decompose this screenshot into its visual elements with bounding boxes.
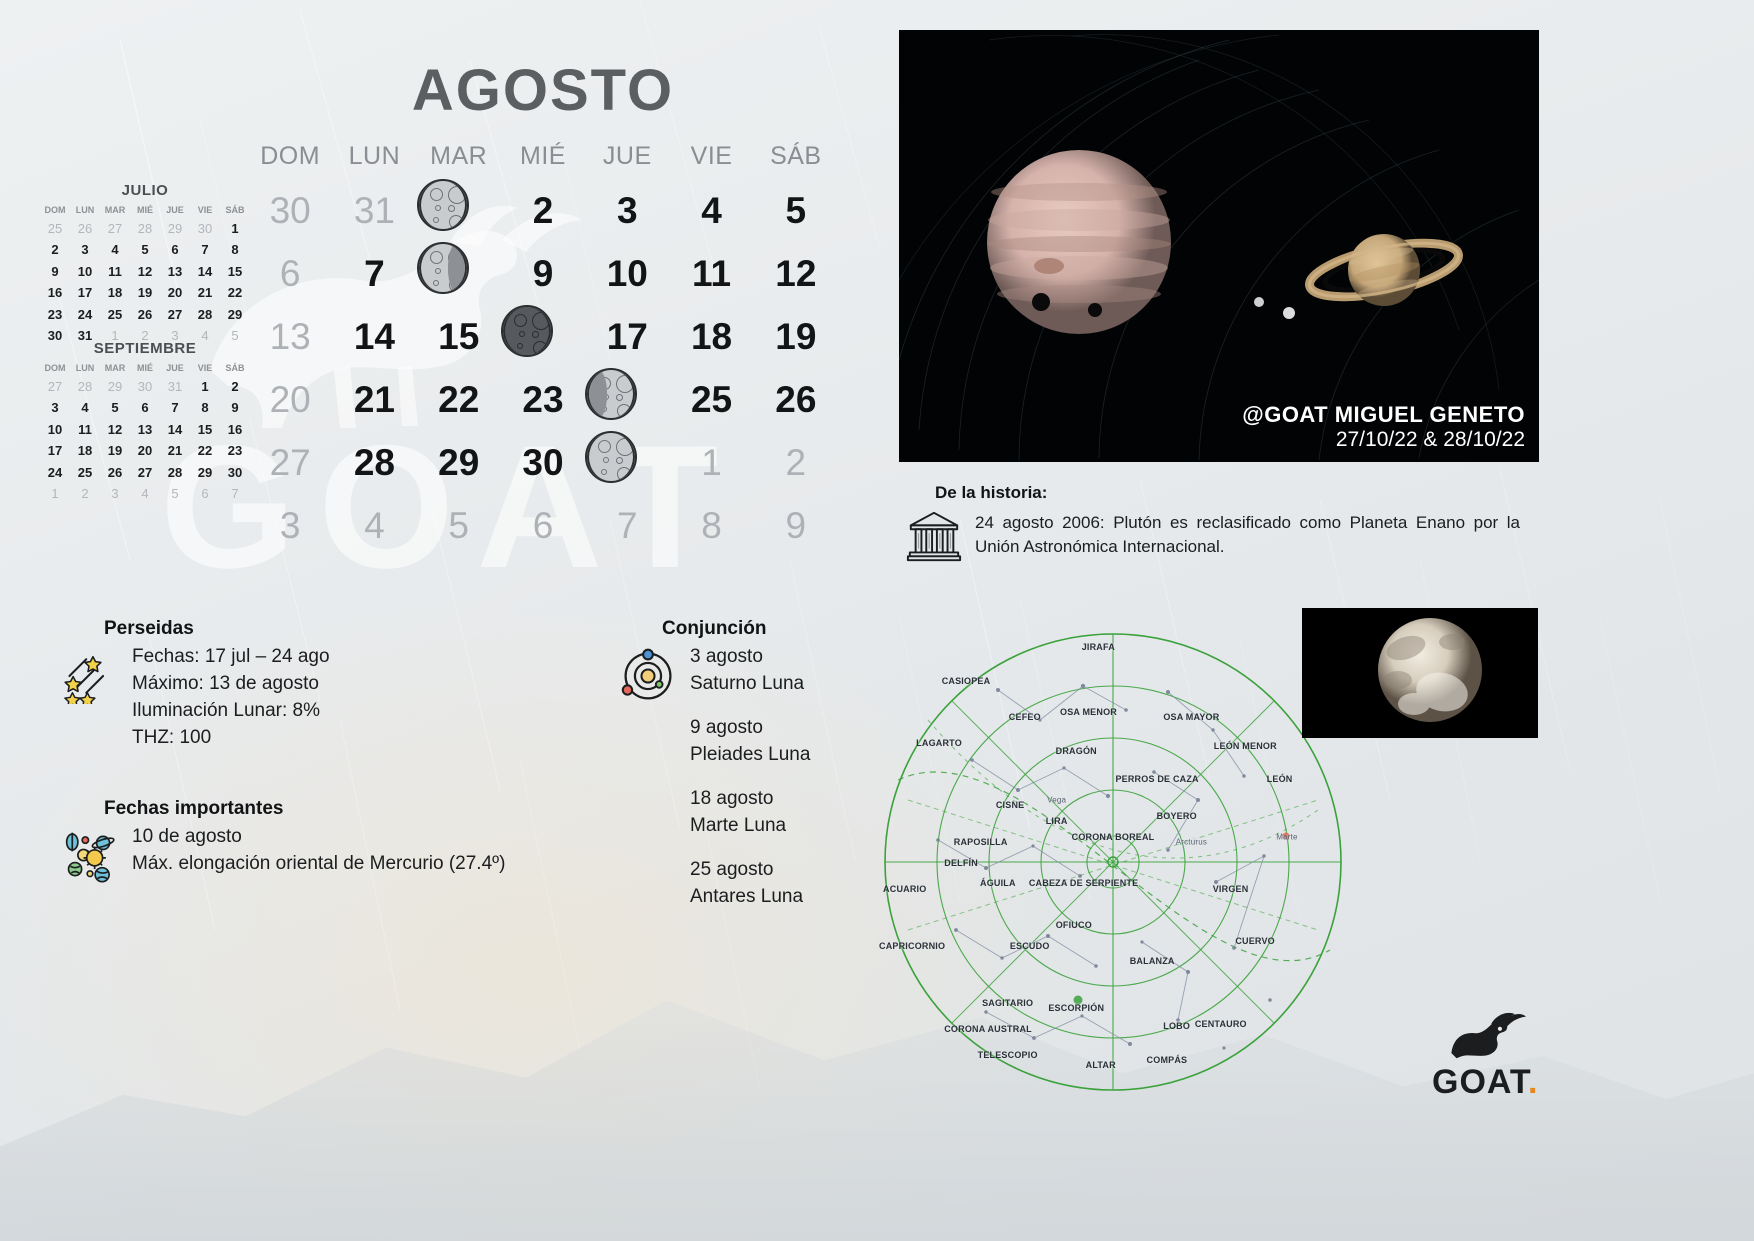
mini-calendar-julio-grid: DOMLUNMARMIÉJUEVIESÁB2526272829301234567… [40,205,250,346]
mini-calendar-day[interactable]: 1 [40,485,70,503]
conjuncion-date: 3 agosto [690,644,810,671]
mini-calendar-day[interactable]: 2 [220,378,250,396]
constellation-label: OFIUCO [1056,920,1092,930]
moon-phase-icon [587,431,635,483]
mini-calendar-day[interactable]: 4 [100,241,130,259]
goat-head-icon [1432,1008,1528,1060]
calendar-day[interactable]: 20 [248,368,332,431]
constellation-label: CORONA BOREAL [1072,832,1155,842]
mini-calendar-day[interactable]: 26 [70,220,100,238]
calendar-day[interactable]: 6 [501,494,585,557]
fechas-importantes-section: Fechas importantes [62,798,505,889]
mini-calendar-day[interactable]: 7 [160,399,190,417]
mini-calendar-day[interactable]: 18 [70,442,100,460]
mini-calendar-day[interactable]: 5 [160,485,190,503]
mini-calendar-julio-title: JULIO [40,182,250,199]
calendar-day[interactable]: 4 [669,179,753,242]
constellation-label: CABEZA DE SERPIENTE [1029,878,1138,888]
constellation-label: DRAGÓN [1056,746,1097,756]
mini-calendar-day[interactable]: 27 [130,464,160,482]
moon-phase-icon [587,368,635,420]
calendar-day[interactable]: 28 [332,431,416,494]
fechas-importantes-heading: Fechas importantes [104,798,505,820]
constellation-label: CAPRICORNIO [879,941,945,951]
calendar-day[interactable]: 8 [669,494,753,557]
calendar-day[interactable]: 3 [585,179,669,242]
calendar-day[interactable]: 31 [332,179,416,242]
mini-calendar-day[interactable]: 28 [70,378,100,396]
conjuncion-objects: Antares Luna [690,884,810,911]
calendar-dow-header: DOM [248,142,332,179]
calendar-day[interactable]: 27 [248,431,332,494]
moon-phase-icon [503,305,551,357]
mini-calendar-day[interactable]: 30 [130,378,160,396]
fechas-importantes-line: Máx. elongación oriental de Mercurio (27… [132,851,505,878]
mini-calendar-day[interactable]: 7 [220,485,250,503]
constellation-label: BOYERO [1157,811,1197,821]
planets-icon [62,824,118,889]
mini-calendar-dow: DOM [40,205,70,217]
mini-calendar-dow: JUE [160,363,190,375]
constellation-label: CISNE [996,800,1025,810]
mini-calendar-day[interactable]: 14 [160,421,190,439]
constellation-label: CASIOPEA [942,676,991,686]
constellation-label: OSA MAYOR [1163,712,1219,722]
temple-icon [905,507,963,570]
mini-calendar-day[interactable]: 28 [130,220,160,238]
constellation-label: LAGARTO [916,738,962,748]
calendar-day[interactable]: 7 [332,242,416,305]
perseidas-heading: Perseidas [104,618,330,640]
mini-calendar-dow: MAR [100,363,130,375]
mini-calendar-day[interactable]: 28 [160,464,190,482]
perseidas-section: Perseidas Fechas: 17 jul – 24 ago Máximo… [62,618,330,752]
calendar-day[interactable]: 21 [332,368,416,431]
mini-calendar-day[interactable]: 8 [190,399,220,417]
mini-calendar-day[interactable]: 5 [100,399,130,417]
mini-calendar-day[interactable]: 20 [130,442,160,460]
mini-calendar-septiembre-grid: DOMLUNMARMIÉJUEVIESÁB2728293031123456789… [40,363,250,504]
mini-calendar-day[interactable]: 22 [220,284,250,302]
mini-calendar-day[interactable]: 4 [70,399,100,417]
conjuncion-entry: 25 agosto Antares Luna [690,857,810,911]
calendar-dow-header: LUN [332,142,416,179]
calendar-day[interactable]: 7 [585,494,669,557]
calendar-day-moon-firstq[interactable] [585,368,637,420]
mini-calendar-day[interactable]: 23 [220,442,250,460]
goat-accent-dot: . [1528,1063,1538,1101]
mini-calendar-dow: JUE [160,205,190,217]
calendar-day[interactable]: 14 [332,305,416,368]
conjuncion-section: Conjunción 3 agosto Saturno Luna 9 agost [620,618,810,911]
calendar-day-moon-full[interactable] [417,179,469,231]
calendar-day-moon-new[interactable] [501,305,553,357]
goat-logo: GOAT. [1432,1008,1542,1099]
mini-calendar-dow: SÁB [220,363,250,375]
conjuncion-date: 18 agosto [690,786,810,813]
fechas-importantes-line: 10 de agosto [132,824,505,851]
mini-calendar-day[interactable]: 27 [40,378,70,396]
historia-heading: De la historia: [935,483,1545,503]
constellation-label: RAPOSILLA [954,837,1008,847]
calendar-day[interactable]: 25 [669,368,753,431]
moon-phase-icon [419,179,467,231]
conjuncion-entry: 18 agosto Marte Luna [690,786,810,840]
calendar-day[interactable]: 3 [248,494,332,557]
constellation-label: OSA MENOR [1060,707,1117,717]
constellation-label: ESCORPIÓN [1048,1003,1104,1013]
mini-calendar-day[interactable]: 29 [220,306,250,324]
mini-calendar-day[interactable]: 27 [100,220,130,238]
calendar-dow-header: JUE [585,142,669,179]
mini-calendar-day[interactable]: 24 [40,464,70,482]
mini-calendar-septiembre: SEPTIEMBRE DOMLUNMARMIÉJUEVIESÁB27282930… [40,340,250,504]
constellation-label: SAGITARIO [982,998,1033,1008]
mini-calendar-day[interactable]: 4 [130,485,160,503]
mini-calendar-dow: VIE [190,363,220,375]
mini-calendar-day[interactable]: 6 [130,399,160,417]
mini-calendar-day[interactable]: 3 [70,241,100,259]
constellation-label: BALANZA [1130,956,1175,966]
mini-calendar-day[interactable]: 30 [190,220,220,238]
mini-calendar-dow: VIE [190,205,220,217]
photo-credit-date: 27/10/22 & 28/10/22 [1242,428,1525,452]
mini-calendar-day[interactable]: 22 [190,442,220,460]
mini-calendar-dow: LUN [70,205,100,217]
mini-calendar-day[interactable]: 12 [130,263,160,281]
mini-calendar-dow: SÁB [220,205,250,217]
mini-calendar-day[interactable]: 17 [40,442,70,460]
mini-calendar-day[interactable]: 11 [100,263,130,281]
constellation-label: CORONA AUSTRAL [944,1024,1032,1034]
calendar-dow-header: VIE [669,142,753,179]
constellation-label: LEÓN MENOR [1214,741,1277,751]
mini-calendar-dow: DOM [40,363,70,375]
perseidas-details: Fechas: 17 jul – 24 ago Máximo: 13 de ag… [132,644,330,752]
mini-calendar-day[interactable]: 23 [40,306,70,324]
mini-calendar-day[interactable]: 13 [130,421,160,439]
mini-calendar-day[interactable]: 20 [160,284,190,302]
perseidas-line: Máximo: 13 de agosto [132,671,330,698]
constellation-label: ALTAR [1086,1060,1116,1070]
constellation-label: Vega [1047,796,1066,805]
conjuncion-date: 9 agosto [690,715,810,742]
constellation-label: JIRAFA [1082,642,1115,652]
mini-calendar-dow: MIÉ [130,205,160,217]
mini-calendar-day[interactable]: 31 [160,378,190,396]
calendar-day[interactable]: 19 [754,305,838,368]
shooting-stars-icon [62,644,118,709]
mini-calendar-day[interactable]: 21 [160,442,190,460]
mini-calendar-day[interactable]: 6 [160,241,190,259]
mini-calendar-day[interactable]: 25 [70,464,100,482]
mini-calendar-day[interactable]: 17 [70,284,100,302]
calendar-day[interactable]: 9 [501,242,585,305]
mini-calendar-day[interactable]: 15 [220,263,250,281]
page-title: AGOSTO [248,62,838,120]
perseidas-line: Fechas: 17 jul – 24 ago [132,644,330,671]
mini-calendar-day[interactable]: 27 [160,306,190,324]
calendar-day[interactable]: 2 [501,179,585,242]
calendar-day[interactable]: 23 [501,368,585,431]
mini-calendar-day[interactable]: 29 [100,378,130,396]
constellation-label: LIRA [1046,816,1068,826]
atom-orbit-icon [620,644,676,709]
mini-calendar-day[interactable]: 2 [70,485,100,503]
conjuncion-objects: Pleiades Luna [690,742,810,769]
constellation-label: DELFÍN [944,858,978,868]
mini-calendar-day[interactable]: 29 [160,220,190,238]
perseidas-line: Iluminación Lunar: 8% [132,698,330,725]
moon-phase-icon [419,242,467,294]
historia-section: De la historia: 24 agosto 2006: Pl [905,483,1545,570]
mini-calendar-day[interactable]: 1 [190,378,220,396]
constellation-label: VIRGEN [1213,884,1249,894]
mini-calendar-day[interactable]: 25 [100,306,130,324]
mini-calendar-day[interactable]: 16 [40,284,70,302]
mini-calendar-day[interactable]: 28 [190,306,220,324]
calendar-day[interactable]: 5 [754,179,838,242]
goat-wordmark: GOAT. [1432,1065,1542,1099]
calendar-day[interactable]: 22 [417,368,501,431]
calendar-day[interactable]: 11 [669,242,753,305]
mini-calendar-day[interactable]: 11 [70,421,100,439]
calendar-day[interactable]: 4 [332,494,416,557]
mini-calendar-day[interactable]: 3 [100,485,130,503]
calendar-day-moon-waning[interactable] [417,242,469,294]
sky-chart: JIRAFACASIOPEACEFEOOSA MENOROSA MAYORLAG… [868,600,1358,1120]
calendar-day[interactable]: 1 [669,431,753,494]
calendar-dow-header: SÁB [754,142,838,179]
mini-calendar-day[interactable]: 2 [40,241,70,259]
planets-photo: @GOAT MIGUEL GENETO 27/10/22 & 28/10/22 [899,30,1539,462]
calendar-day[interactable]: 13 [248,305,332,368]
calendar-day[interactable]: 12 [754,242,838,305]
main-calendar-grid: DOMLUNMARMIÉJUEVIESÁB3031234567910111213… [248,142,838,557]
mini-calendar-day[interactable]: 10 [70,263,100,281]
mini-calendar-day[interactable]: 5 [130,241,160,259]
constellation-label: ACUARIO [883,884,926,894]
constellation-label: COMPÁS [1147,1055,1188,1065]
mini-calendar-day[interactable]: 6 [190,485,220,503]
mini-calendar-day[interactable]: 15 [190,421,220,439]
constellation-label: LEÓN [1267,774,1293,784]
mini-calendar-day[interactable]: 26 [130,306,160,324]
calendar-day[interactable]: 30 [501,431,585,494]
mini-calendar-dow: MIÉ [130,363,160,375]
constellation-label: TELESCOPIO [978,1050,1038,1060]
perseidas-line: THZ: 100 [132,725,330,752]
pluto-photo [1302,608,1538,738]
conjuncion-details: 3 agosto Saturno Luna 9 agosto Pleiades … [690,644,810,911]
mini-calendar-day[interactable]: 19 [130,284,160,302]
constellation-label: ESCUDO [1010,941,1050,951]
constellation-label: ÁGUILA [980,878,1016,888]
mini-calendar-day[interactable]: 24 [70,306,100,324]
main-calendar: AGOSTO DOMLUNMARMIÉJUEVIESÁB303123456791… [248,62,838,557]
mini-calendar-day[interactable]: 19 [100,442,130,460]
mini-calendar-day[interactable]: 18 [100,284,130,302]
mini-calendar-day[interactable]: 3 [40,399,70,417]
constellation-label: Marte [1276,832,1297,841]
mini-calendar-day[interactable]: 12 [100,421,130,439]
mini-calendar-day[interactable]: 29 [190,464,220,482]
mini-calendar-day[interactable]: 8 [220,241,250,259]
calendar-day[interactable]: 9 [754,494,838,557]
calendar-day[interactable]: 6 [248,242,332,305]
calendar-day[interactable]: 15 [417,305,501,368]
calendar-day[interactable]: 17 [585,305,669,368]
mini-calendar-day[interactable]: 9 [40,263,70,281]
calendar-dow-header: MIÉ [501,142,585,179]
mini-calendar-day[interactable]: 25 [40,220,70,238]
constellation-label: Arcturus [1176,837,1207,846]
historia-text: 24 agosto 2006: Plutón es reclasificado … [975,507,1520,559]
mini-calendar-day[interactable]: 21 [190,284,220,302]
constellation-label: LOBO [1163,1021,1190,1031]
goat-wordmark-text: GOAT [1432,1063,1528,1101]
conjuncion-heading: Conjunción [662,618,810,640]
photo-credit-author: @GOAT MIGUEL GENETO [1242,402,1525,428]
calendar-day[interactable]: 10 [585,242,669,305]
calendar-day[interactable]: 26 [754,368,838,431]
photo-credit: @GOAT MIGUEL GENETO 27/10/22 & 28/10/22 [1242,402,1525,452]
conjuncion-objects: Saturno Luna [690,671,810,698]
mini-calendar-day[interactable]: 30 [220,464,250,482]
mini-calendar-day[interactable]: 9 [220,399,250,417]
mini-calendar-dow: LUN [70,363,100,375]
constellation-label: CUERVO [1235,936,1275,946]
fechas-importantes-details: 10 de agosto Máx. elongación oriental de… [132,824,505,878]
mini-calendar-day[interactable]: 7 [190,241,220,259]
mini-calendar-day[interactable]: 1 [220,220,250,238]
calendar-day[interactable]: 30 [248,179,332,242]
conjuncion-entry: 9 agosto Pleiades Luna [690,715,810,769]
mini-calendar-septiembre-title: SEPTIEMBRE [40,340,250,357]
calendar-day[interactable]: 5 [417,494,501,557]
calendar-day-moon-full[interactable] [585,431,637,483]
mini-calendar-day[interactable]: 26 [100,464,130,482]
conjuncion-objects: Marte Luna [690,813,810,840]
mini-calendar-day[interactable]: 14 [190,263,220,281]
constellation-label: CENTAURO [1195,1019,1247,1029]
mini-calendar-day[interactable]: 10 [40,421,70,439]
constellation-label: PERROS DE CAZA [1115,774,1198,784]
mini-calendar-day[interactable]: 13 [160,263,190,281]
conjuncion-entry: 3 agosto Saturno Luna [690,644,810,698]
mini-calendar-dow: MAR [100,205,130,217]
calendar-day[interactable]: 2 [754,431,838,494]
calendar-day[interactable]: 18 [669,305,753,368]
mini-calendar-day[interactable]: 16 [220,421,250,439]
mini-calendar-julio: JULIO DOMLUNMARMIÉJUEVIESÁB2526272829301… [40,182,250,346]
calendar-day[interactable]: 29 [417,431,501,494]
calendar-dow-header: MAR [417,142,501,179]
constellation-label: CEFEO [1009,712,1041,722]
conjuncion-date: 25 agosto [690,857,810,884]
